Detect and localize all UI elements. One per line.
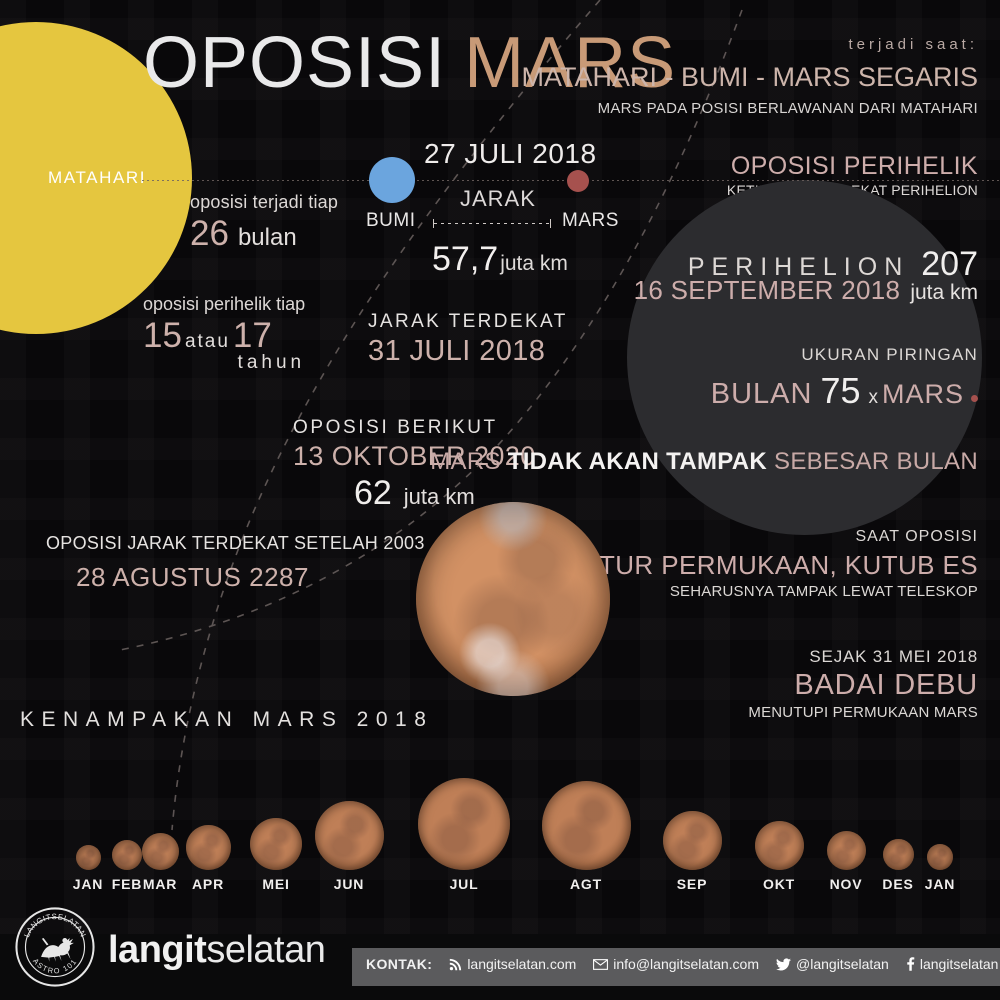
mars-disk-mei-4	[250, 818, 302, 870]
myth-busting-line: MARS TIDAK AKAN TAMPAK SEBESAR BULAN	[430, 448, 978, 476]
duststorm-kicker: SEJAK 31 MEI 2018	[809, 647, 978, 667]
centaur-archer-icon	[41, 938, 74, 962]
mars-disk-nov-10	[827, 831, 866, 870]
mars-disk-jan-12	[927, 844, 953, 870]
telescope-kicker: SAAT OPOSISI	[855, 528, 978, 546]
badge-ring-bottom-text: ASTRO 101	[31, 957, 79, 976]
month-label-apr-3: APR	[192, 876, 224, 892]
mars-disk-jun-5	[315, 801, 384, 870]
perihelic-interval-row: 15atau17 tahun	[143, 316, 305, 374]
distance-value: 57,7juta km	[432, 240, 568, 279]
next-opposition-distance: 62	[354, 474, 392, 512]
perihelion-date-row: 16 SEPTEMBER 2018juta km	[634, 275, 978, 306]
contact-twitter[interactable]: @langitselatan	[776, 956, 889, 972]
mars-label: MARS	[562, 210, 619, 232]
distance-unit: juta km	[500, 252, 568, 275]
mars-globe-photo	[416, 502, 610, 696]
closest-approach-block: JARAK TERDEKAT 31 JULI 2018	[368, 311, 568, 368]
occurs-when-kicker: terjadi saat:	[848, 36, 978, 53]
telescope-subline: SEHARUSNYA TAMPAK LEWAT TELESKOP	[670, 583, 978, 600]
closest-approach-date: 31 JULI 2018	[368, 335, 568, 368]
perihelic-interval-conjunction: atau	[185, 331, 230, 352]
month-label-jan-0: JAN	[73, 876, 103, 892]
contact-label: KONTAK:	[366, 956, 432, 972]
next-opposition-distance-unit: juta km	[404, 484, 475, 509]
mars-tiny-dot-icon	[971, 395, 978, 402]
facebook-icon	[906, 957, 915, 971]
perihelic-interval-n2: 17	[233, 316, 272, 355]
month-label-jun-5: JUN	[334, 876, 364, 892]
wordmark-light: selatan	[206, 929, 325, 971]
mars-disk-agt-7	[542, 781, 631, 870]
contact-website-text: langitselatan.com	[467, 956, 576, 972]
duststorm-headline: BADAI DEBU	[794, 669, 978, 702]
contact-facebook[interactable]: langitselatan	[906, 956, 999, 972]
telescope-headline: FITUR PERMUKAAN, KUTUB ES	[575, 550, 978, 581]
alignment-subline: MARS PADA POSISI BERLAWANAN DARI MATAHAR…	[598, 100, 978, 117]
perihelic-interval-block: oposisi perihelik tiap 15atau17 tahun	[143, 294, 305, 374]
opposition-interval-unit: bulan	[238, 224, 297, 251]
month-labels-row: JANFEBMARAPRMEIJUNJULAGTSEPOKTNOVDESJAN	[0, 876, 1000, 898]
contact-twitter-text: @langitselatan	[796, 956, 889, 972]
opposition-interval-caption: oposisi terjadi tiap	[190, 192, 338, 213]
mars-dot	[567, 170, 589, 192]
mars-disk-apr-3	[186, 825, 231, 870]
month-label-mar-2: MAR	[143, 876, 177, 892]
opposition-interval-number: 26	[190, 214, 229, 253]
opposition-interval-block: oposisi terjadi tiap 26bulan	[190, 192, 338, 254]
disk-size-caption: UKURAN PIRINGAN	[801, 345, 978, 365]
perihelic-opposition-title: OPOSISI PERIHELIK	[731, 152, 978, 181]
appearance-section-title: KENAMPAKAN MARS 2018	[20, 708, 433, 732]
record-after-2003-block: OPOSISI JARAK TERDEKAT SETELAH 2003 28 A…	[46, 533, 425, 593]
myth-part-b: TIDAK AKAN TAMPAK	[508, 448, 767, 475]
perihelic-interval-unit: tahun	[143, 352, 305, 374]
wordmark-bold: langit	[108, 929, 206, 971]
twitter-bird-icon	[776, 958, 791, 971]
distance-label: JARAK	[460, 186, 536, 212]
sun-label: MATAHARI	[48, 168, 146, 188]
disk-size-factor: 75	[820, 370, 860, 411]
next-opposition-caption: OPOSISI BERIKUT	[293, 417, 536, 439]
disk-size-moon: BULAN	[711, 378, 813, 410]
distance-number: 57,7	[432, 240, 498, 278]
mars-disk-mar-2	[142, 833, 179, 870]
perihelic-interval-caption: oposisi perihelik tiap	[143, 294, 305, 315]
myth-part-c: SEBESAR BULAN	[767, 448, 978, 475]
opposition-interval-row: 26bulan	[190, 214, 338, 254]
month-label-jan-12: JAN	[925, 876, 955, 892]
record-after-2003-caption: OPOSISI JARAK TERDEKAT SETELAH 2003	[46, 533, 425, 554]
title-oposisi: OPOSISI	[143, 23, 446, 103]
mars-disk-feb-1	[112, 840, 142, 870]
closest-approach-caption: JARAK TERDEKAT	[368, 311, 568, 333]
earth-label: BUMI	[366, 210, 416, 232]
month-label-nov-10: NOV	[830, 876, 863, 892]
perihelic-interval-n1: 15	[143, 316, 182, 355]
month-label-des-11: DES	[882, 876, 913, 892]
envelope-icon	[593, 959, 608, 970]
langitselatan-badge-logo: LANGITSELATAN ASTRO 101	[14, 906, 96, 988]
month-label-jul-6: JUL	[450, 876, 479, 892]
footer: LANGITSELATAN ASTRO 101 langitselatan KO…	[0, 934, 1000, 1000]
duststorm-subline: MENUTUPI PERMUKAAN MARS	[748, 704, 978, 721]
distance-measure-bar	[433, 219, 551, 228]
alignment-headline: MATAHARI - BUMI - MARS SEGARIS	[521, 62, 978, 93]
month-label-okt-9: OKT	[763, 876, 795, 892]
month-label-feb-1: FEB	[112, 876, 142, 892]
rss-icon	[449, 958, 462, 971]
record-after-2003-date: 28 AGUSTUS 2287	[76, 562, 425, 593]
langitselatan-wordmark: langitselatan	[108, 929, 325, 972]
contact-email-text: info@langitselatan.com	[613, 956, 759, 972]
mars-disk-okt-9	[755, 821, 804, 870]
disk-size-mars: MARS	[882, 379, 964, 409]
contact-email[interactable]: info@langitselatan.com	[593, 956, 759, 972]
opposition-date: 27 JULI 2018	[424, 138, 597, 170]
perihelion-distance-unit: juta km	[910, 281, 978, 304]
disk-size-row: BULAN75xMARS	[711, 370, 978, 412]
month-label-agt-7: AGT	[570, 876, 602, 892]
month-label-mei-4: MEI	[262, 876, 289, 892]
contact-website[interactable]: langitselatan.com	[449, 956, 576, 972]
mars-disk-sep-8	[663, 811, 722, 870]
earth-dot	[369, 157, 415, 203]
infographic-poster: MATAHARI OPOSISIMARS terjadi saat: MATAH…	[0, 0, 1000, 1000]
contact-facebook-text: langitselatan	[920, 956, 999, 972]
perihelion-date: 16 SEPTEMBER 2018	[634, 275, 901, 305]
mars-disk-jan-0	[76, 845, 101, 870]
mars-disk-des-11	[883, 839, 914, 870]
month-label-sep-8: SEP	[677, 876, 707, 892]
mars-disk-jul-6	[418, 778, 510, 870]
disk-size-multiplier: x	[868, 387, 878, 408]
myth-part-a: MARS	[430, 448, 508, 475]
mars-size-timeline	[0, 770, 1000, 870]
contact-list: KONTAK: langitselatan.com info@langitsel…	[366, 956, 1000, 972]
svg-text:ASTRO 101: ASTRO 101	[31, 957, 79, 976]
